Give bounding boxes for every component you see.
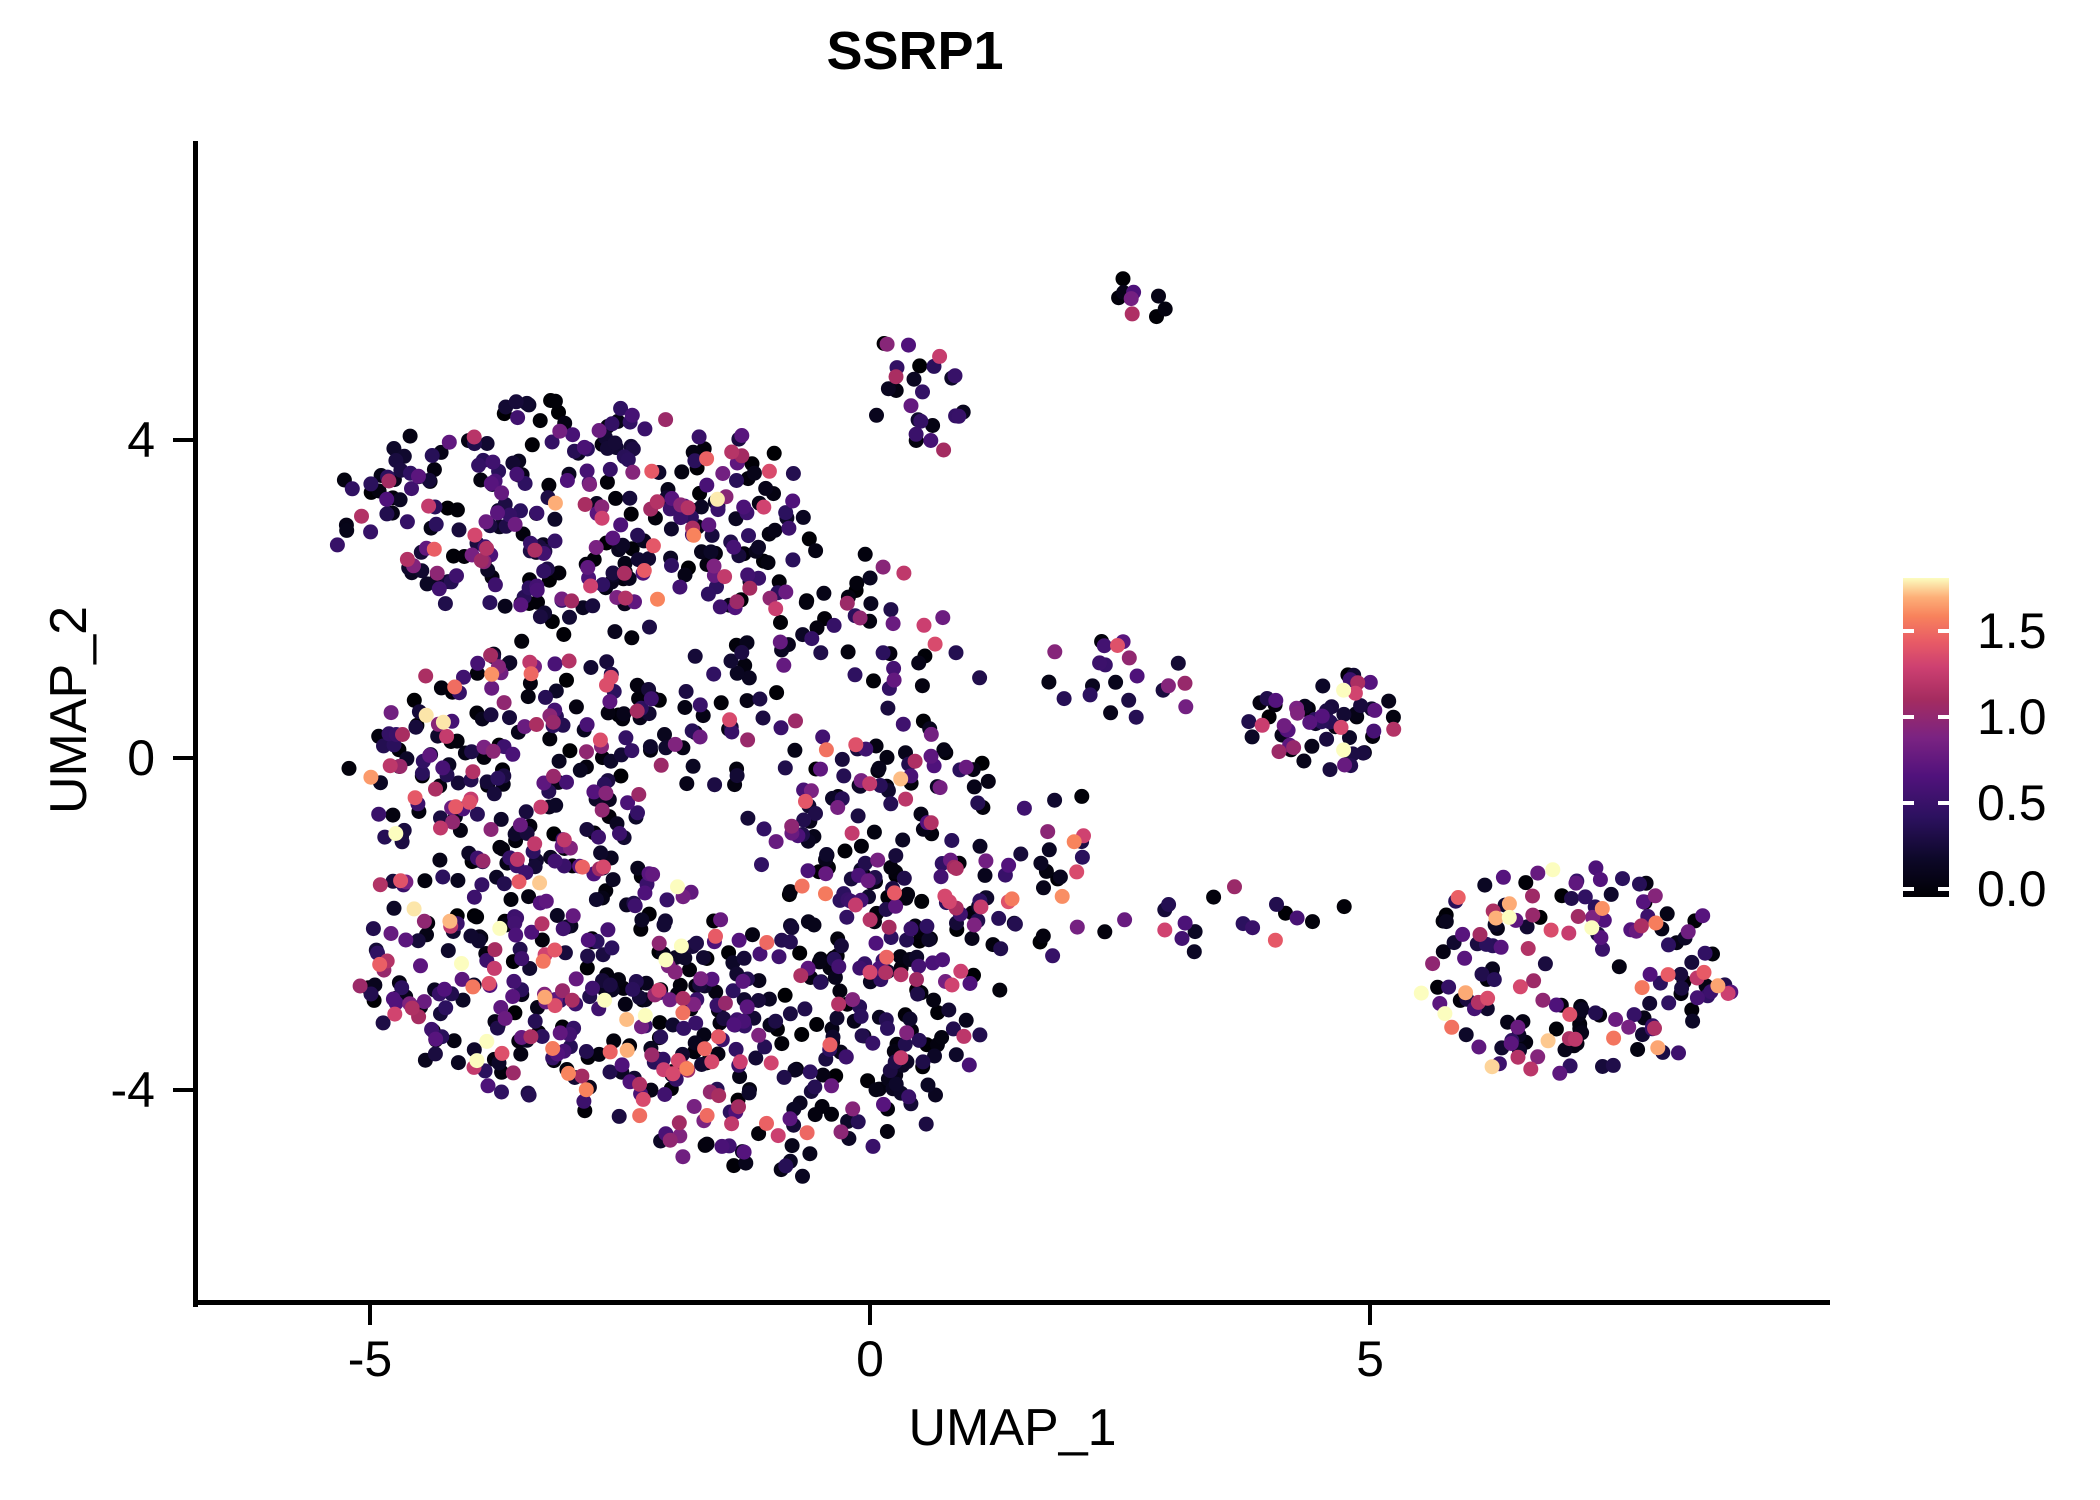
scatter-point <box>937 889 952 904</box>
scatter-point <box>880 1102 895 1117</box>
scatter-point <box>417 914 432 929</box>
scatter-point <box>456 801 471 816</box>
scatter-point <box>630 704 645 719</box>
scatter-point <box>516 527 531 542</box>
scatter-point <box>461 433 476 448</box>
scatter-point <box>694 1057 709 1072</box>
scatter-point <box>820 848 835 863</box>
scatter-point <box>921 932 936 947</box>
scatter-point <box>502 655 517 670</box>
scatter-point <box>672 580 687 595</box>
scatter-point <box>833 1045 848 1060</box>
scatter-point <box>1515 1014 1530 1029</box>
scatter-point <box>1111 290 1126 305</box>
scatter-point <box>600 441 615 456</box>
scatter-point <box>556 921 571 936</box>
scatter-point <box>509 467 524 482</box>
scatter-point <box>376 738 391 753</box>
scatter-point <box>663 992 678 1007</box>
scatter-point <box>1673 967 1688 982</box>
scatter-point <box>663 551 678 566</box>
scatter-point <box>666 1066 681 1081</box>
scatter-point <box>839 910 854 925</box>
scatter-point <box>729 967 744 982</box>
scatter-point <box>1085 678 1100 693</box>
scatter-point <box>752 692 767 707</box>
scatter-point <box>604 940 619 955</box>
scatter-point <box>511 1034 526 1049</box>
scatter-point <box>677 700 692 715</box>
scatter-point <box>816 1068 831 1083</box>
scatter-point <box>813 762 828 777</box>
scatter-point <box>1337 758 1352 773</box>
scatter-point <box>506 1065 521 1080</box>
scatter-point <box>1343 758 1358 773</box>
scatter-point <box>652 693 667 708</box>
scatter-point <box>444 574 459 589</box>
scatter-point <box>1055 889 1070 904</box>
scatter-point <box>612 1109 627 1124</box>
scatter-point <box>557 416 572 431</box>
scatter-point <box>1110 638 1125 653</box>
scatter-point <box>634 912 649 927</box>
scatter-point <box>707 559 722 574</box>
scatter-point <box>852 999 867 1014</box>
scatter-point <box>509 858 524 873</box>
scatter-point <box>828 1068 843 1083</box>
scatter-point <box>473 930 488 945</box>
scatter-point <box>965 906 980 921</box>
scatter-point <box>614 1065 629 1080</box>
scatter-point <box>498 917 513 932</box>
scatter-point <box>774 933 789 948</box>
scatter-point <box>1487 972 1502 987</box>
scatter-point <box>1342 730 1357 745</box>
scatter-point <box>557 832 572 847</box>
scatter-point <box>731 1093 746 1108</box>
scatter-point <box>764 1056 779 1071</box>
scatter-point <box>591 1001 606 1016</box>
scatter-point <box>782 887 797 902</box>
scatter-point <box>1703 984 1718 999</box>
scatter-point <box>801 798 816 813</box>
scatter-point <box>497 914 512 929</box>
scatter-point <box>836 886 851 901</box>
scatter-point <box>736 974 751 989</box>
scatter-point <box>598 983 613 998</box>
scatter-point <box>740 811 755 826</box>
scatter-point <box>411 1009 426 1024</box>
scatter-point <box>651 465 666 480</box>
scatter-point <box>904 398 919 413</box>
scatter-point <box>762 992 777 1007</box>
scatter-point <box>1206 890 1221 905</box>
scatter-point <box>393 492 408 507</box>
scatter-point <box>618 591 633 606</box>
scatter-point <box>959 760 974 775</box>
scatter-point <box>725 955 740 970</box>
scatter-point <box>731 548 746 563</box>
scatter-point <box>1490 921 1505 936</box>
scatter-point <box>737 546 752 561</box>
scatter-point <box>700 1108 715 1123</box>
scatter-point <box>489 870 504 885</box>
scatter-point <box>664 522 679 537</box>
scatter-point <box>679 684 694 699</box>
scatter-point <box>587 826 602 841</box>
scatter-point <box>603 1065 618 1080</box>
scatter-point <box>737 1019 752 1034</box>
scatter-point <box>1157 923 1172 938</box>
scatter-point <box>1036 929 1051 944</box>
scatter-point <box>756 711 771 726</box>
scatter-point <box>818 866 833 881</box>
scatter-point <box>1533 910 1548 925</box>
scatter-point <box>757 1039 772 1054</box>
scatter-point <box>642 907 657 922</box>
scatter-point <box>890 360 905 375</box>
scatter-point <box>924 727 939 742</box>
scatter-point <box>630 805 645 820</box>
scatter-point <box>665 1064 680 1079</box>
scatter-point <box>481 1078 496 1093</box>
scatter-point <box>580 442 595 457</box>
scatter-point <box>910 987 925 1002</box>
scatter-point <box>428 1032 443 1047</box>
scatter-point <box>949 901 964 916</box>
scatter-point <box>956 1029 971 1044</box>
scatter-point <box>868 870 883 885</box>
scatter-point <box>751 540 766 555</box>
scatter-point <box>724 654 739 669</box>
scatter-point <box>722 1138 737 1153</box>
scatter-point <box>979 891 994 906</box>
scatter-point <box>494 665 509 680</box>
scatter-point <box>762 464 777 479</box>
scatter-point <box>694 544 709 559</box>
scatter-point <box>589 540 604 555</box>
scatter-point <box>593 733 608 748</box>
scatter-point <box>919 1037 934 1052</box>
scatter-point <box>868 874 883 889</box>
scatter-point <box>893 1050 908 1065</box>
scatter-point <box>851 868 866 883</box>
scatter-point <box>428 782 443 797</box>
scatter-point <box>1518 1035 1533 1050</box>
scatter-point <box>998 868 1013 883</box>
scatter-point <box>470 851 485 866</box>
scatter-point <box>736 1014 751 1029</box>
scatter-point <box>942 894 957 909</box>
scatter-point <box>599 678 614 693</box>
scatter-point <box>781 521 796 536</box>
scatter-point <box>632 1077 647 1092</box>
scatter-point <box>595 511 610 526</box>
scatter-point <box>1520 919 1535 934</box>
scatter-point <box>664 491 679 506</box>
scatter-point <box>889 369 904 384</box>
scatter-point <box>582 989 597 1004</box>
scatter-point <box>729 762 744 777</box>
scatter-point <box>478 1063 493 1078</box>
scatter-point <box>783 1154 798 1169</box>
scatter-point <box>582 1080 597 1095</box>
scatter-point <box>643 502 658 517</box>
scatter-point <box>491 503 506 518</box>
scatter-point <box>595 973 610 988</box>
scatter-point <box>485 477 500 492</box>
scatter-point <box>401 560 416 575</box>
scatter-point <box>1569 876 1584 891</box>
scatter-point <box>530 583 545 598</box>
scatter-point <box>624 743 639 758</box>
scatter-point <box>589 792 604 807</box>
scatter-point <box>1467 1001 1482 1016</box>
scatter-point <box>711 1088 726 1103</box>
scatter-point <box>1314 714 1329 729</box>
scatter-point <box>1485 961 1500 976</box>
scatter-point <box>687 1044 702 1059</box>
scatter-point <box>411 804 426 819</box>
scatter-point <box>623 415 638 430</box>
scatter-point <box>824 1107 839 1122</box>
scatter-point <box>514 987 529 1002</box>
scatter-point <box>911 656 926 671</box>
scatter-point <box>1253 695 1268 710</box>
scatter-point <box>627 1071 642 1086</box>
scatter-point <box>670 879 685 894</box>
scatter-point <box>901 338 916 353</box>
scatter-point <box>1459 1027 1474 1042</box>
scatter-point <box>562 610 577 625</box>
scatter-point <box>843 894 858 909</box>
scatter-point <box>697 979 712 994</box>
scatter-point <box>652 985 667 1000</box>
scatter-point <box>507 1005 522 1020</box>
scatter-point <box>1323 715 1338 730</box>
scatter-point <box>853 611 868 626</box>
scatter-point <box>492 738 507 753</box>
scatter-point <box>383 758 398 773</box>
scatter-point <box>751 993 766 1008</box>
scatter-point <box>740 635 755 650</box>
scatter-point <box>880 890 895 905</box>
scatter-point <box>1525 889 1540 904</box>
scatter-point <box>469 853 484 868</box>
scatter-point <box>657 727 672 742</box>
scatter-point <box>724 445 739 460</box>
scatter-point <box>429 517 444 532</box>
scatter-point <box>434 445 449 460</box>
scatter-point <box>1441 980 1456 995</box>
scatter-point <box>741 471 756 486</box>
scatter-point <box>664 1081 679 1096</box>
scatter-point <box>673 497 688 512</box>
scatter-point <box>763 1018 778 1033</box>
scatter-point <box>513 597 528 612</box>
scatter-point <box>1480 972 1495 987</box>
scatter-point <box>706 667 721 682</box>
scatter-point <box>579 557 594 572</box>
scatter-point <box>809 1017 824 1032</box>
scatter-point <box>538 690 553 705</box>
scatter-point <box>852 778 867 793</box>
scatter-point <box>658 952 673 967</box>
scatter-point <box>562 743 577 758</box>
scatter-point <box>711 1029 726 1044</box>
scatter-point <box>783 1111 798 1126</box>
scatter-point <box>703 544 718 559</box>
scatter-point <box>1523 1062 1538 1077</box>
scatter-point <box>488 1014 503 1029</box>
scatter-point <box>948 368 963 383</box>
scatter-point <box>448 809 463 824</box>
scatter-point <box>692 486 707 501</box>
scatter-point <box>647 987 662 1002</box>
scatter-point <box>803 970 818 985</box>
scatter-point <box>501 656 516 671</box>
scatter-point <box>901 1089 916 1104</box>
scatter-point <box>433 810 448 825</box>
scatter-point <box>1336 683 1351 698</box>
scatter-point <box>690 519 705 534</box>
scatter-point <box>524 925 539 940</box>
scatter-point <box>552 754 567 769</box>
scatter-point <box>1356 746 1371 761</box>
scatter-point <box>585 933 600 948</box>
scatter-point <box>581 571 596 586</box>
scatter-point <box>522 580 537 595</box>
scatter-point <box>575 860 590 875</box>
scatter-point <box>771 1128 786 1143</box>
scatter-point <box>889 1077 904 1092</box>
scatter-point <box>385 808 400 823</box>
scatter-point <box>625 982 640 997</box>
scatter-point <box>550 908 565 923</box>
scatter-point <box>421 499 436 514</box>
scatter-point <box>442 435 457 450</box>
scatter-point <box>1126 285 1141 300</box>
scatter-point <box>1349 709 1364 724</box>
scatter-point <box>1448 894 1463 909</box>
scatter-point <box>962 1058 977 1073</box>
scatter-point <box>887 885 902 900</box>
scatter-point <box>505 747 520 762</box>
scatter-point <box>722 598 737 613</box>
scatter-point <box>387 1007 402 1022</box>
scatter-point <box>498 497 513 512</box>
scatter-point <box>778 585 793 600</box>
scatter-point <box>650 592 665 607</box>
scatter-point <box>598 883 613 898</box>
scatter-point <box>386 874 401 889</box>
scatter-point <box>1097 924 1112 939</box>
scatter-point <box>1094 634 1109 649</box>
scatter-point <box>778 760 793 775</box>
scatter-point <box>1125 306 1140 321</box>
scatter-point <box>529 579 544 594</box>
scatter-point <box>848 608 863 623</box>
scatter-point <box>734 645 749 660</box>
scatter-point <box>909 982 924 997</box>
scatter-point <box>470 807 485 822</box>
scatter-point <box>597 777 612 792</box>
scatter-point <box>696 708 711 723</box>
scatter-point <box>373 775 388 790</box>
scatter-point <box>933 780 948 795</box>
scatter-point <box>1573 999 1588 1014</box>
scatter-point <box>536 546 551 561</box>
scatter-point <box>567 444 582 459</box>
scatter-point <box>1039 864 1054 879</box>
scatter-point <box>675 1149 690 1164</box>
scatter-point <box>548 496 563 511</box>
scatter-point <box>484 681 499 696</box>
scatter-point <box>432 779 447 794</box>
scatter-point <box>815 1099 830 1114</box>
scatter-point <box>880 964 895 979</box>
scatter-point <box>1001 858 1016 873</box>
scatter-point <box>704 1054 719 1069</box>
scatter-point <box>688 725 703 740</box>
scatter-point <box>823 961 838 976</box>
scatter-point <box>525 437 540 452</box>
scatter-point <box>819 742 834 757</box>
scatter-point <box>364 987 379 1002</box>
scatter-point <box>963 976 978 991</box>
scatter-point <box>1623 922 1638 937</box>
scatter-point <box>529 717 544 732</box>
scatter-point <box>440 501 455 516</box>
scatter-point <box>554 592 569 607</box>
scatter-point <box>342 761 357 776</box>
scatter-point <box>593 845 608 860</box>
scatter-point <box>1269 897 1284 912</box>
scatter-point <box>803 1064 818 1079</box>
scatter-point <box>873 778 888 793</box>
scatter-point <box>493 1000 508 1015</box>
scatter-point <box>727 777 742 792</box>
scatter-point <box>972 670 987 685</box>
scatter-point <box>774 643 789 658</box>
scatter-point <box>388 826 403 841</box>
scatter-point <box>537 987 552 1002</box>
scatter-point <box>849 583 864 598</box>
scatter-point <box>1083 687 1098 702</box>
scatter-point <box>601 705 616 720</box>
scatter-point <box>482 976 497 991</box>
scatter-point <box>586 784 601 799</box>
scatter-point <box>607 684 622 699</box>
scatter-point <box>387 472 402 487</box>
scatter-point <box>981 774 996 789</box>
scatter-point <box>893 967 908 982</box>
scatter-point <box>403 429 418 444</box>
scatter-point <box>424 1022 439 1037</box>
scatter-point <box>403 466 418 481</box>
scatter-point <box>967 918 982 933</box>
scatter-point <box>885 881 900 896</box>
scatter-point <box>559 1062 574 1077</box>
scatter-point <box>517 719 532 734</box>
scatter-point <box>522 819 537 834</box>
scatter-point <box>1041 675 1056 690</box>
scatter-point <box>972 1027 987 1042</box>
scatter-point <box>939 895 954 910</box>
scatter-point <box>1040 824 1055 839</box>
scatter-point <box>576 1094 591 1109</box>
scatter-point <box>751 1028 766 1043</box>
